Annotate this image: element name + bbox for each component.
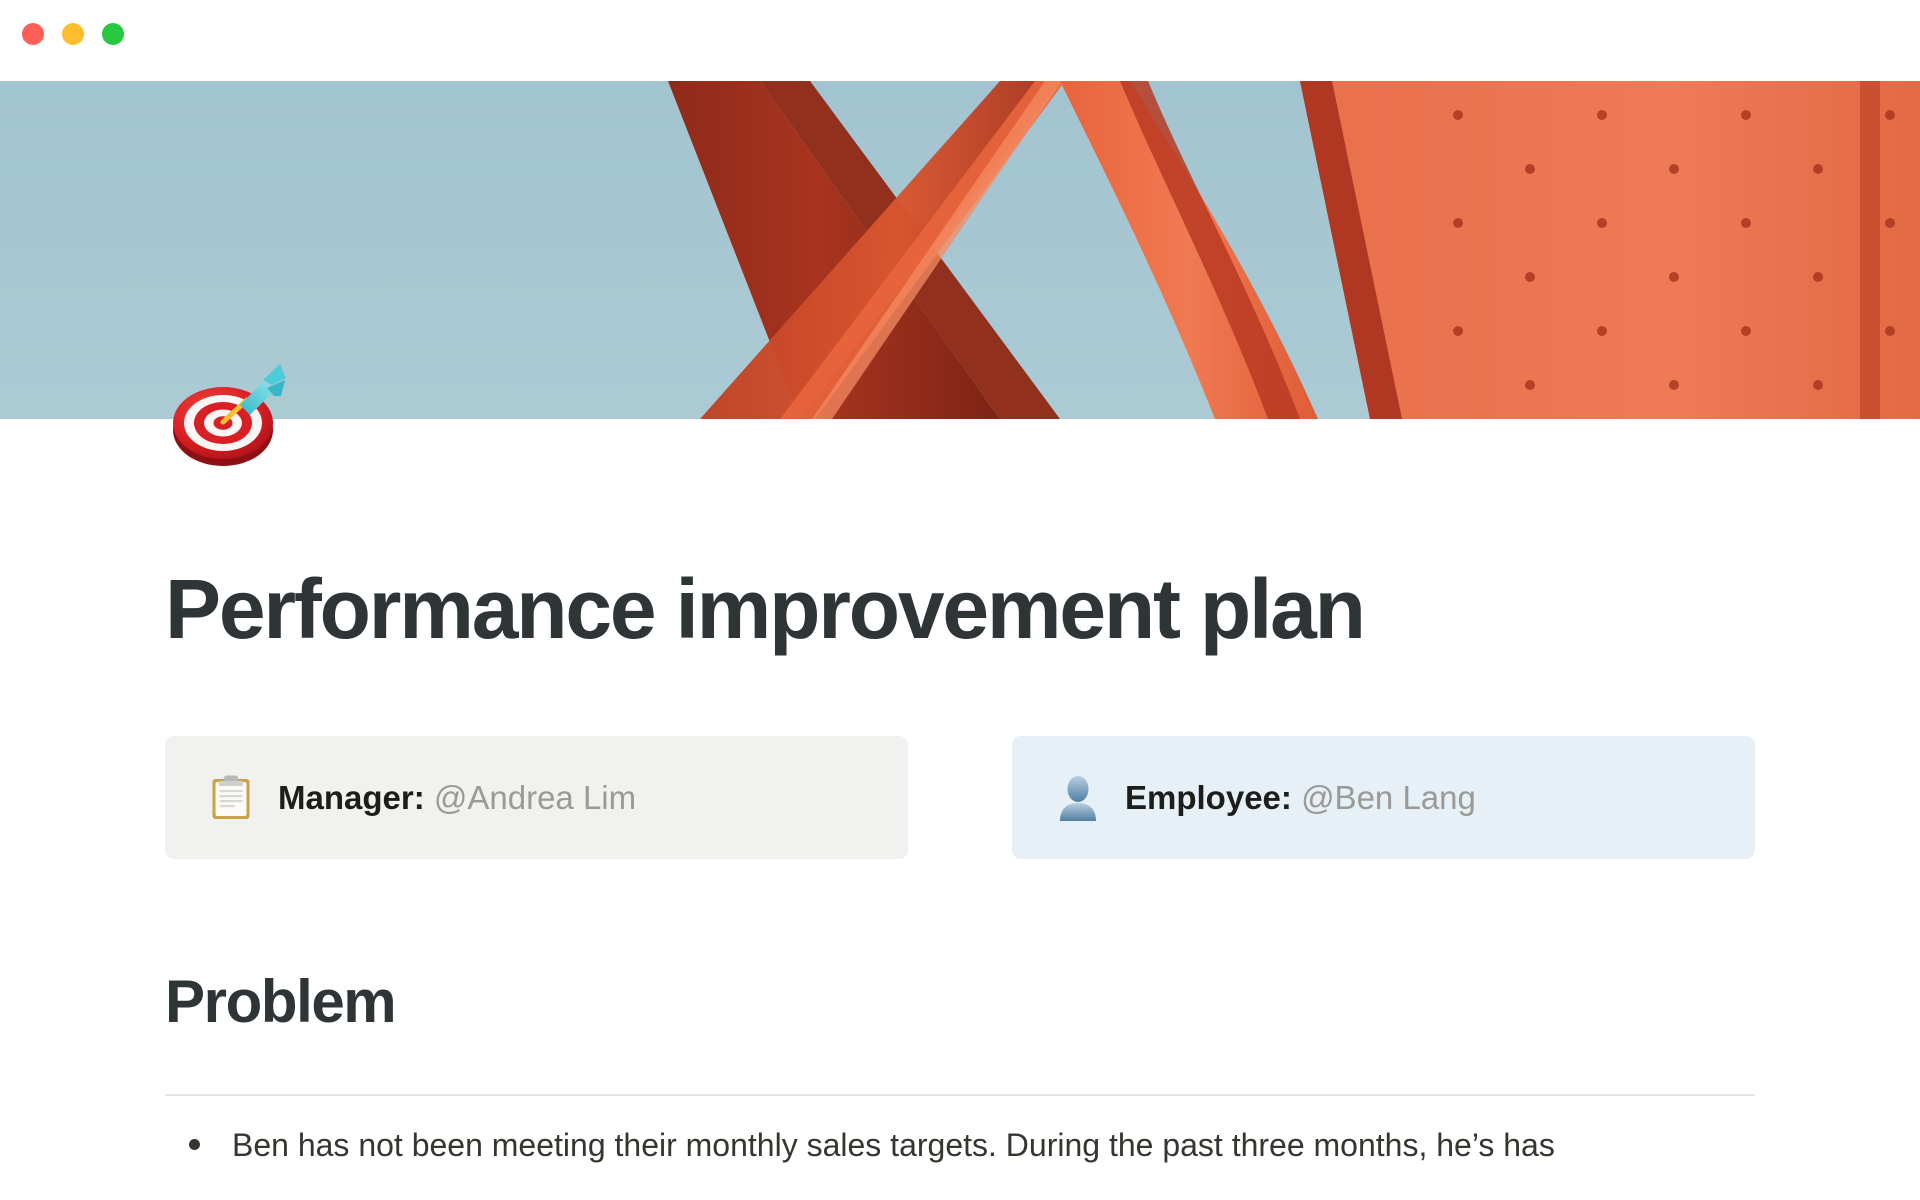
person-silhouette-icon bbox=[1057, 775, 1099, 821]
bullet-dot-icon bbox=[165, 1123, 202, 1150]
window-titlebar bbox=[0, 0, 1920, 81]
page-icon-target[interactable] bbox=[168, 352, 286, 470]
callout-employee-label: Employee: bbox=[1125, 779, 1292, 816]
callout-employee-mention[interactable]: @Ben Lang bbox=[1301, 779, 1476, 816]
dart-target-icon bbox=[168, 352, 286, 470]
section-divider bbox=[165, 1094, 1755, 1096]
problem-bullet-list: Ben has not been meeting their monthly s… bbox=[165, 1123, 1755, 1167]
page-body: Performance improvement plan bbox=[0, 419, 1920, 1200]
page-cover-image[interactable] bbox=[0, 81, 1920, 419]
list-item[interactable]: Ben has not been meeting their monthly s… bbox=[165, 1123, 1755, 1167]
callout-employee[interactable]: Employee: @Ben Lang bbox=[1012, 736, 1755, 859]
callout-manager-text: Manager: @Andrea Lim bbox=[278, 778, 636, 818]
close-window-button[interactable] bbox=[22, 23, 44, 45]
callout-manager-label: Manager: bbox=[278, 779, 425, 816]
traffic-light-group bbox=[22, 23, 124, 45]
clipboard-icon bbox=[211, 775, 251, 821]
content-column: Performance improvement plan bbox=[165, 419, 1755, 1167]
callout-employee-text: Employee: @Ben Lang bbox=[1125, 778, 1476, 818]
app-window: Performance improvement plan bbox=[0, 0, 1920, 1200]
callout-manager-mention[interactable]: @Andrea Lim bbox=[434, 779, 636, 816]
list-item-text: Ben has not been meeting their monthly s… bbox=[202, 1123, 1555, 1167]
minimize-window-button[interactable] bbox=[62, 23, 84, 45]
bust-in-silhouette-emoji-icon bbox=[1054, 775, 1102, 821]
callout-manager[interactable]: Manager: @Andrea Lim bbox=[165, 736, 908, 859]
page-title[interactable]: Performance improvement plan bbox=[165, 561, 1755, 657]
section-heading-problem[interactable]: Problem bbox=[165, 967, 1755, 1037]
callout-row: Manager: @Andrea Lim bbox=[165, 736, 1755, 859]
maximize-window-button[interactable] bbox=[102, 23, 124, 45]
cover-illustration bbox=[0, 81, 1920, 419]
clipboard-emoji-icon bbox=[207, 775, 255, 821]
